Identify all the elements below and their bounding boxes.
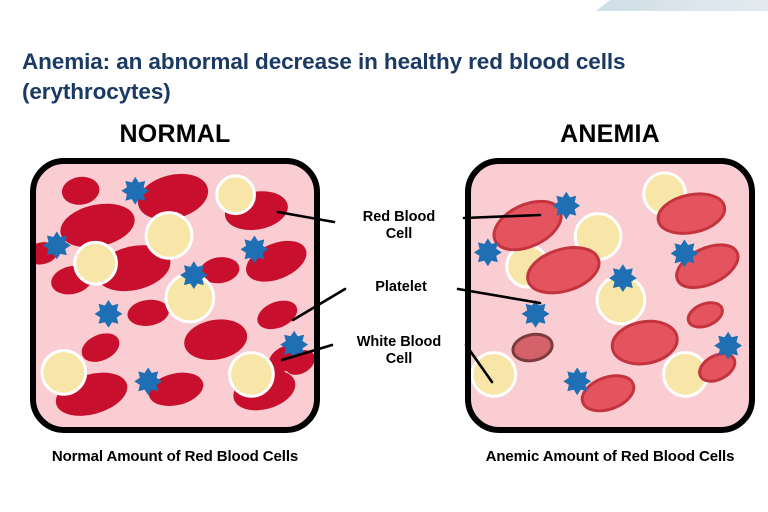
platelet [134,367,162,395]
red-blood-cell [577,369,638,417]
platelet [43,231,71,259]
red-blood-cell [126,297,171,328]
legend-label-platelet: Platelet [346,279,456,296]
white-blood-cell [75,242,117,284]
panel-heading-anemia: ANEMIA [465,120,755,149]
legend-label-red-blood-cell: Red Blood Cell [336,209,462,243]
platelet [474,238,502,266]
platelet [609,264,637,292]
white-blood-cell [146,213,192,259]
platelet [121,177,149,205]
legend-label-white-blood-cell: White Blood Cell [334,334,464,368]
white-blood-cell [217,176,255,214]
red-blood-cell [253,295,301,335]
white-blood-cell [230,353,274,397]
platelet [552,192,580,220]
red-blood-cell [510,331,554,364]
panel-caption-normal: Normal Amount of Red Blood Cells [20,448,330,465]
platelet [180,261,208,289]
red-blood-cell [685,298,726,332]
corner-banner-decoration [596,0,768,11]
platelet [241,235,269,263]
red-blood-cell [60,174,101,207]
platelet [280,331,308,359]
white-blood-cell [42,351,86,395]
platelet [522,300,550,328]
platelet [671,239,699,267]
normal-blood-cells-illustration [36,164,314,427]
white-blood-cell [472,353,516,397]
page-title: Anemia: an abnormal decrease in healthy … [22,47,712,107]
panel-caption-anemia: Anemic Amount of Red Blood Cells [455,448,765,465]
anemia-blood-cells-illustration [471,164,749,427]
panel-heading-normal: NORMAL [30,120,320,149]
platelet [95,300,123,328]
blood-sample-panel-normal [30,158,320,433]
platelet [563,367,591,395]
platelet [714,332,742,360]
blood-sample-panel-anemia [465,158,755,433]
